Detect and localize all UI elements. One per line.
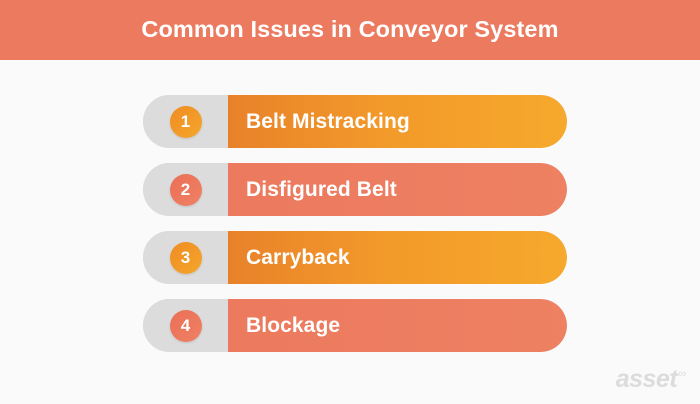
number-badge-label: 4 [181, 317, 190, 334]
list-item-number-cap: 1 [143, 95, 228, 148]
list-item-label: Blockage [246, 315, 340, 336]
list-item[interactable]: 2 Disfigured Belt [143, 163, 567, 216]
header-band: Common Issues in Conveyor System [0, 0, 700, 60]
number-badge: 2 [170, 174, 202, 206]
number-badge-label: 1 [181, 113, 190, 130]
number-badge-label: 3 [181, 249, 190, 266]
list-item[interactable]: 4 Blockage [143, 299, 567, 352]
list-item-label: Carryback [246, 247, 350, 268]
list-item-bar: Carryback [228, 231, 567, 284]
number-badge: 4 [170, 310, 202, 342]
list-item-bar: Blockage [228, 299, 567, 352]
number-badge: 1 [170, 106, 202, 138]
list-item[interactable]: 3 Carryback [143, 231, 567, 284]
number-badge: 3 [170, 242, 202, 274]
infinity-icon: ∞ [678, 369, 686, 380]
number-badge-label: 2 [181, 181, 190, 198]
list-item-number-cap: 3 [143, 231, 228, 284]
page-title: Common Issues in Conveyor System [141, 18, 558, 42]
list-item[interactable]: 1 Belt Mistracking [143, 95, 567, 148]
brand-logo: asset ∞ [616, 367, 686, 392]
list-item-bar: Disfigured Belt [228, 163, 567, 216]
issues-list: 1 Belt Mistracking 2 Disfigured Belt 3 C… [143, 95, 567, 352]
list-item-label: Disfigured Belt [246, 179, 397, 200]
list-item-number-cap: 2 [143, 163, 228, 216]
list-item-bar: Belt Mistracking [228, 95, 567, 148]
brand-logo-wordmark: asset [616, 367, 677, 392]
list-item-number-cap: 4 [143, 299, 228, 352]
list-item-label: Belt Mistracking [246, 111, 410, 132]
